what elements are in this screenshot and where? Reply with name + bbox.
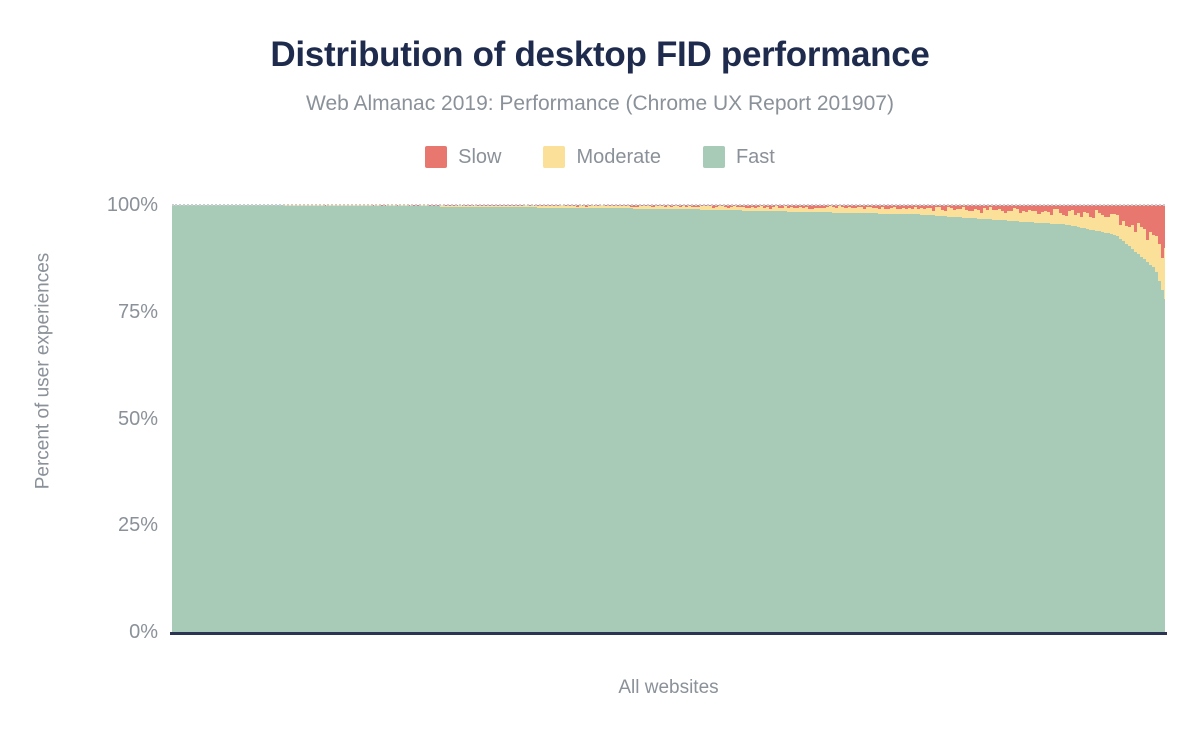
chart-subtitle: Web Almanac 2019: Performance (Chrome UX… bbox=[0, 90, 1200, 118]
stacked-bar-series bbox=[172, 205, 1165, 632]
legend-label-fast: Fast bbox=[736, 146, 775, 168]
y-axis-title: Percent of user experiences bbox=[30, 0, 56, 742]
legend-item-slow[interactable]: Slow bbox=[425, 146, 501, 168]
legend-label-moderate: Moderate bbox=[576, 146, 661, 168]
bar-segment-moderate bbox=[1164, 248, 1165, 299]
bar-column bbox=[1164, 205, 1165, 632]
y-axis-title-label: Percent of user experiences bbox=[32, 253, 54, 490]
plot-area bbox=[172, 205, 1165, 632]
y-axis-tick-0: 100% bbox=[92, 195, 158, 215]
page-title: Distribution of desktop FID performance bbox=[0, 33, 1200, 77]
legend-swatch-fast-icon bbox=[703, 146, 725, 168]
legend-item-fast[interactable]: Fast bbox=[703, 146, 775, 168]
legend-swatch-slow-icon bbox=[425, 146, 447, 168]
bar-segment-fast bbox=[1164, 299, 1165, 632]
y-axis-tick-1: 75% bbox=[92, 302, 158, 322]
legend-swatch-moderate-icon bbox=[543, 146, 565, 168]
bar-segment-slow bbox=[1164, 205, 1165, 248]
chart-figure: Distribution of desktop FID performance … bbox=[0, 0, 1200, 742]
gridline-100 bbox=[172, 204, 1165, 206]
y-axis-tick-2: 50% bbox=[92, 409, 158, 429]
y-axis-tick-4: 0% bbox=[92, 622, 158, 642]
y-axis-tick-3: 25% bbox=[92, 515, 158, 535]
x-axis-title: All websites bbox=[172, 676, 1165, 700]
legend-item-moderate[interactable]: Moderate bbox=[543, 146, 661, 168]
x-axis-line bbox=[170, 632, 1167, 635]
legend-label-slow: Slow bbox=[458, 146, 501, 168]
chart-legend: Slow Moderate Fast bbox=[0, 143, 1200, 171]
